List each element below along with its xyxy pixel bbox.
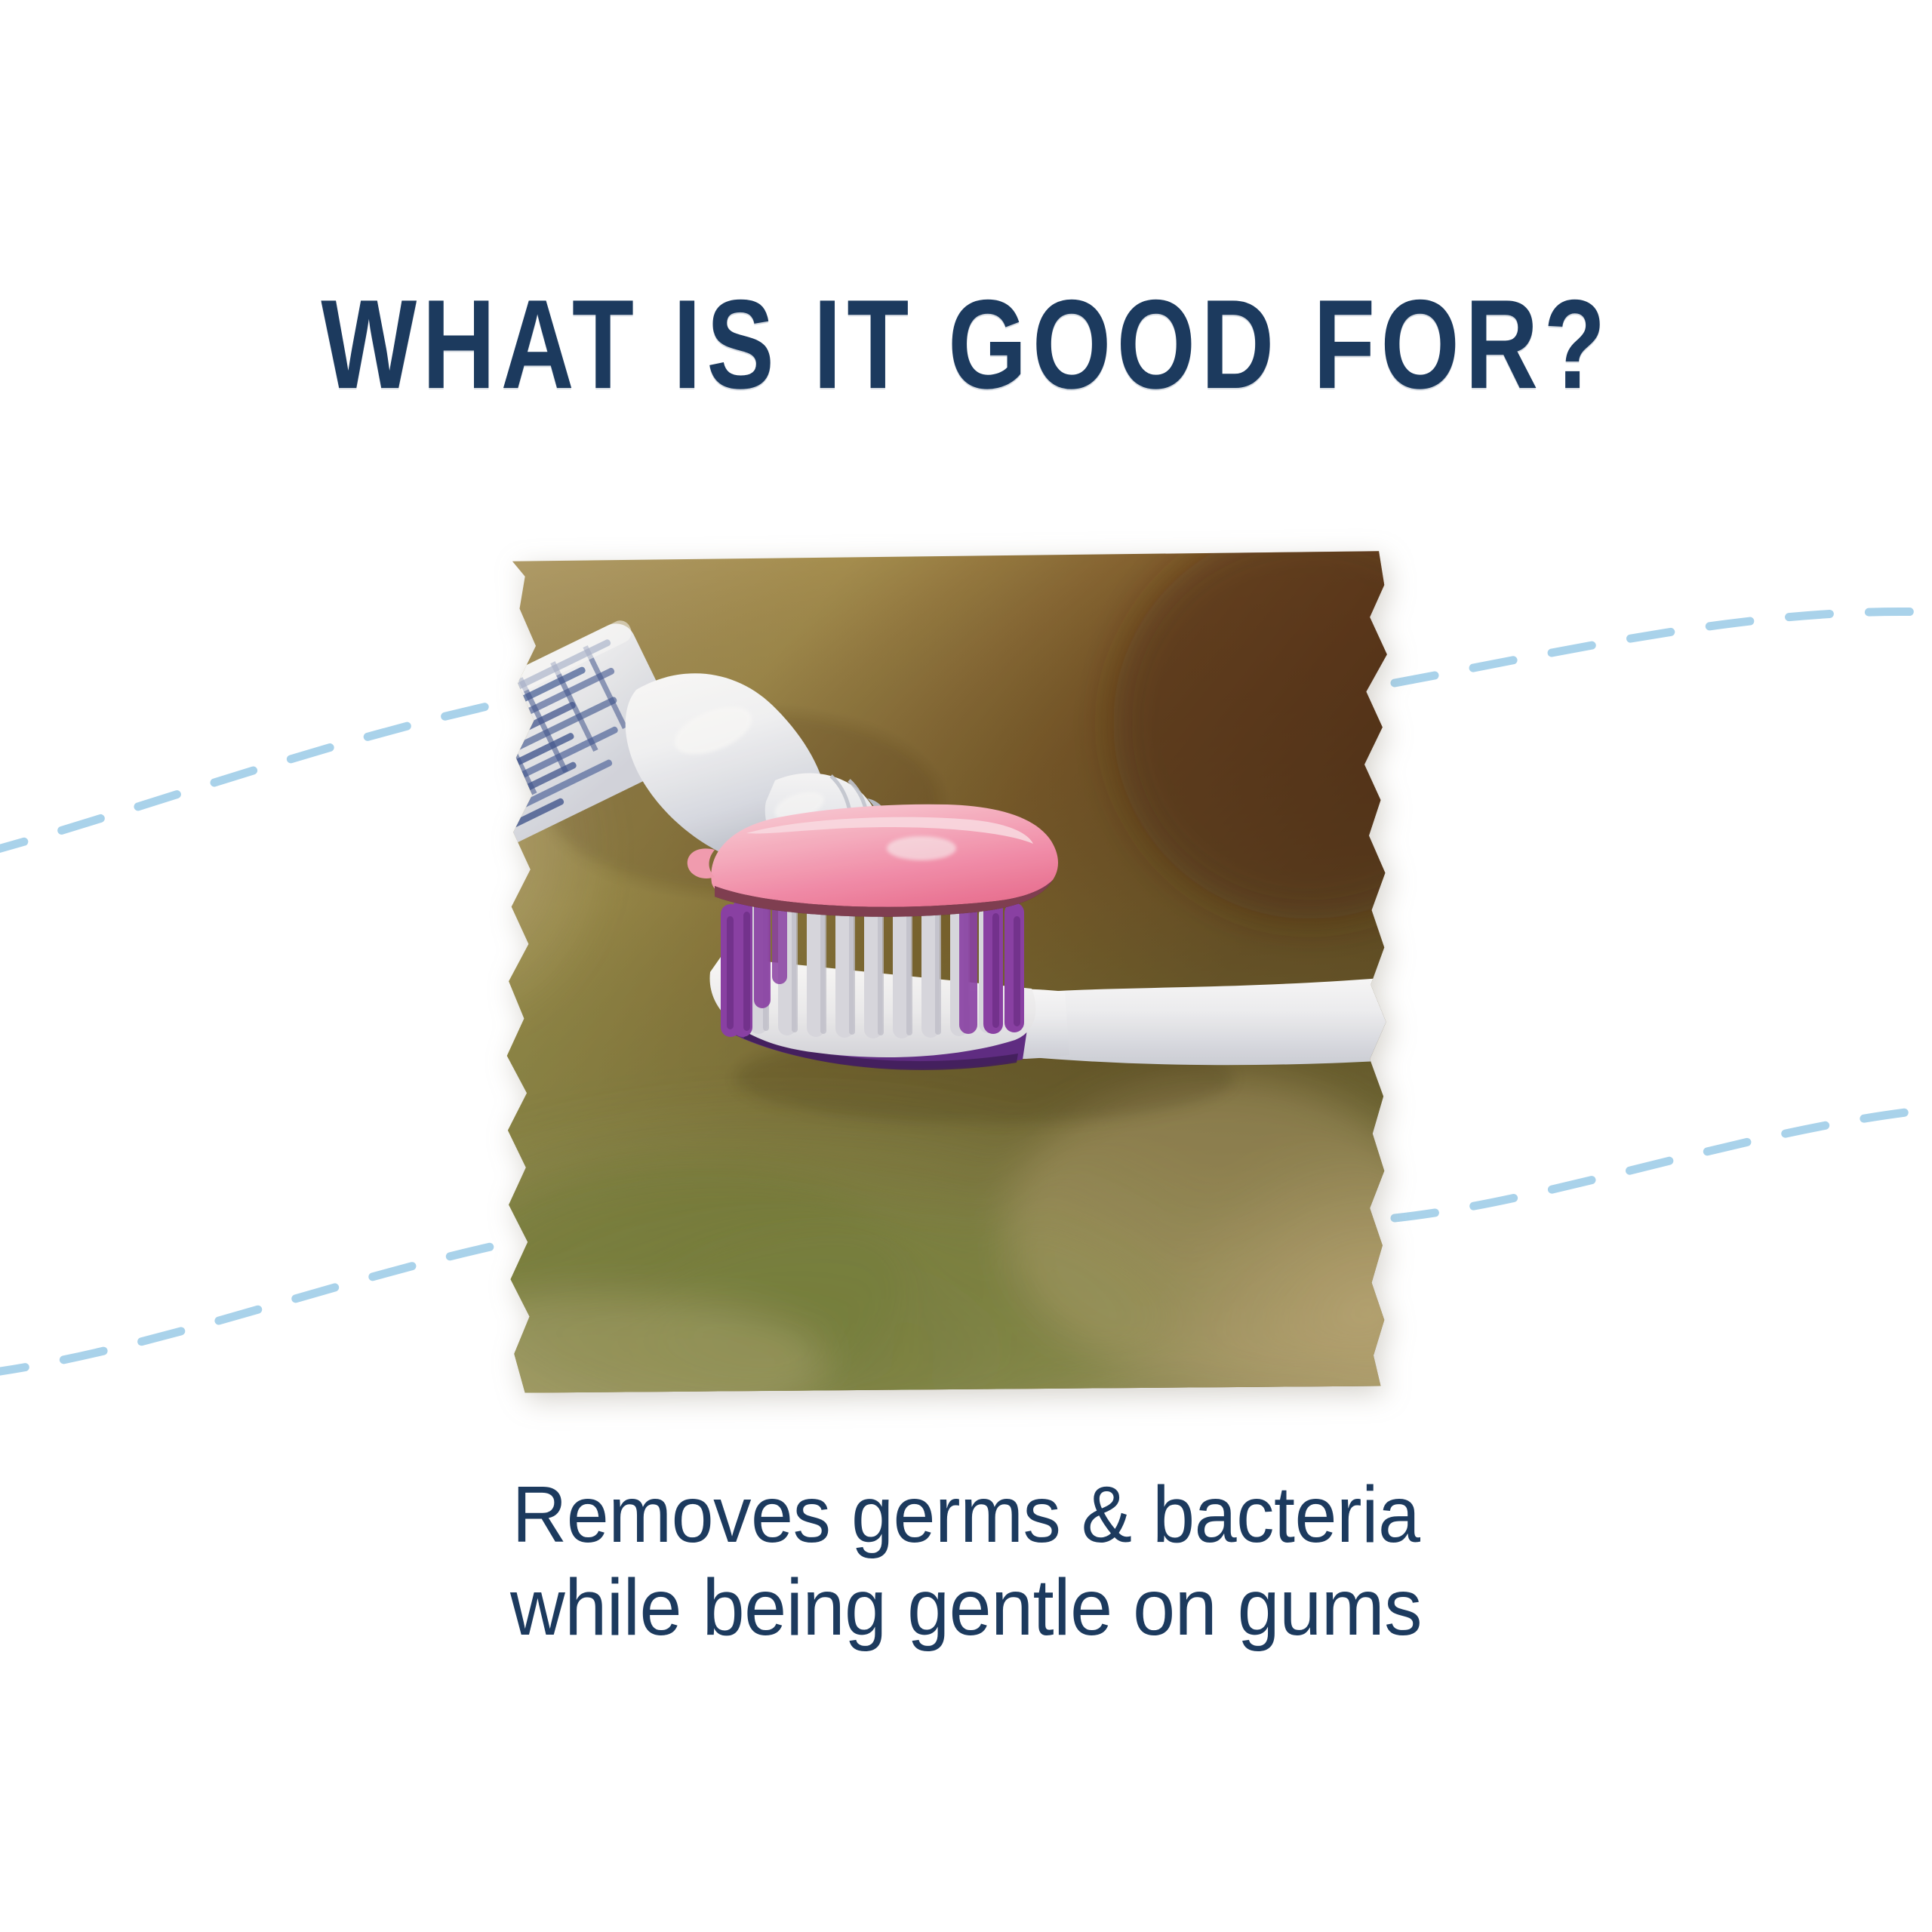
- photo-caption: Removes germs & bacteria while being gen…: [48, 1469, 1884, 1654]
- caption-line-2: while being gentle on gums: [48, 1561, 1884, 1654]
- dashed-line-right-lower: [1395, 1108, 1932, 1218]
- dashed-line-left-upper: [0, 702, 507, 853]
- caption-line-1: Removes germs & bacteria: [48, 1469, 1884, 1561]
- product-photo-clip: [494, 549, 1397, 1396]
- product-photo-illustration: [494, 549, 1397, 1396]
- product-photo: [494, 549, 1397, 1396]
- dashed-line-left-lower: [0, 1244, 504, 1374]
- promo-card: WHAT IS IT GOOD FOR?: [0, 0, 1932, 1932]
- page-title: WHAT IS IT GOOD FOR?: [193, 281, 1739, 408]
- dashed-line-right-upper: [1395, 611, 1932, 683]
